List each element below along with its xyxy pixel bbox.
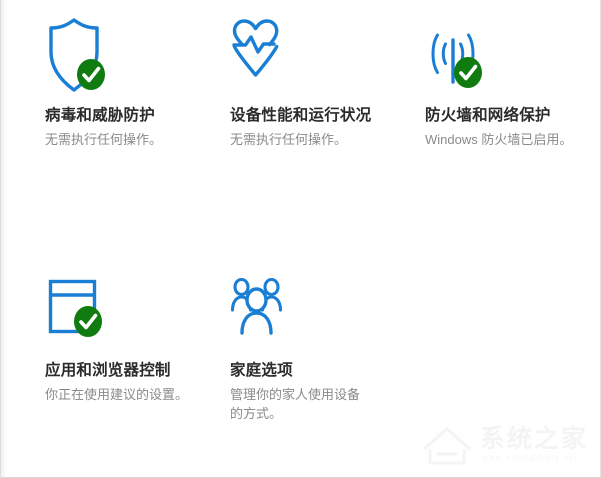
security-card-family-options[interactable]: 家庭选项 管理你的家人使用设备的方式。 (230, 273, 405, 423)
card-title: 防火墙和网络保护 (425, 106, 600, 126)
security-card-grid: 病毒和威胁防护 无需执行任何操作。 设备性能和运行状况 无需执行任何操作。 (1, 0, 601, 478)
security-card-app-browser-control[interactable]: 应用和浏览器控制 你正在使用建议的设置。 (45, 273, 220, 404)
card-description: 无需执行任何操作。 (230, 130, 380, 149)
family-people-icon (230, 273, 292, 349)
card-description: Windows 防火墙已启用。 (425, 130, 575, 149)
check-badge-icon (76, 58, 106, 91)
card-title: 病毒和威胁防护 (45, 106, 220, 126)
card-title: 设备性能和运行状况 (230, 106, 405, 126)
heart-pulse-icon (230, 18, 292, 94)
card-title: 应用和浏览器控制 (45, 361, 220, 381)
check-badge-icon (73, 305, 103, 338)
card-description: 管理你的家人使用设备的方式。 (230, 385, 362, 423)
security-card-virus-threat-protection[interactable]: 病毒和威胁防护 无需执行任何操作。 (45, 18, 220, 149)
security-card-device-performance-health[interactable]: 设备性能和运行状况 无需执行任何操作。 (230, 18, 405, 149)
security-card-firewall-network-protection[interactable]: 防火墙和网络保护 Windows 防火墙已启用。 (425, 18, 600, 149)
security-dashboard-screen: 病毒和威胁防护 无需执行任何操作。 设备性能和运行状况 无需执行任何操作。 (0, 0, 601, 478)
broadcast-signal-icon (425, 18, 487, 94)
card-title: 家庭选项 (230, 361, 405, 381)
browser-window-icon (45, 273, 107, 349)
card-description: 你正在使用建议的设置。 (45, 385, 195, 404)
card-description: 无需执行任何操作。 (45, 130, 195, 149)
check-badge-icon (453, 56, 483, 89)
shield-icon (45, 18, 107, 94)
